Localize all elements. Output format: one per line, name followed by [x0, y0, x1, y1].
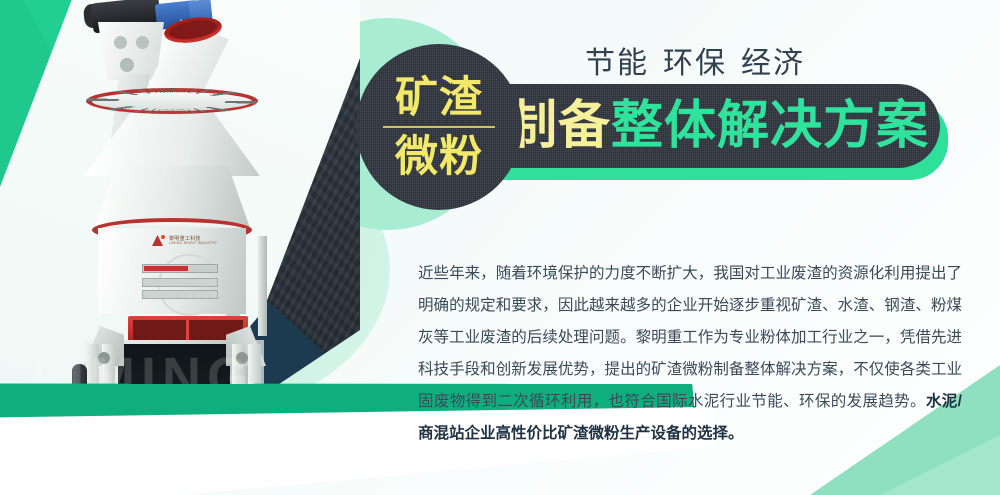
frame-port-3 [120, 58, 134, 72]
base-port-right [236, 352, 248, 364]
discharge-hopper-divider [186, 320, 189, 340]
upper-flange-bolts [86, 88, 258, 114]
headline-rest: 整体解决方案 [611, 97, 929, 155]
body-copy-normal: 近些年来，随着环境保护的力度不断扩大，我国对工业废渣的资源化利用提出了明确的规定… [418, 265, 962, 410]
brand-sun-icon [161, 235, 165, 239]
brand-name-en: LIMING HEAVY INDUSTRY [169, 242, 217, 245]
badge-line-2: 微粉 [395, 131, 483, 183]
badge-line-1: 矿渣 [395, 72, 483, 124]
badge-divider [383, 126, 495, 128]
frame-port-1 [114, 36, 127, 49]
tagline-item-2: 经济 [741, 47, 805, 80]
keyword-badge: 矿渣 微粉 [356, 44, 522, 210]
vent-slot-2 [142, 278, 218, 287]
headline-text: 制备整体解决方案 [505, 92, 929, 160]
side-pipe [258, 236, 267, 336]
base-port-left [98, 352, 110, 364]
tagline-row: 节能环保经济 [585, 38, 805, 82]
tagline-item-0: 节能 [585, 47, 649, 80]
body-copy: 近些年来，随着环境保护的力度不断扩大，我国对工业废渣的资源化利用提出了明确的规定… [418, 258, 962, 450]
machine-brand-logo: 黎明重工科技 LIMING HEAVY INDUSTRY [152, 234, 224, 248]
upper-frame [98, 22, 164, 80]
frame-port-2 [136, 36, 149, 49]
tagline-item-1: 环保 [663, 47, 727, 80]
vent-slot-3 [142, 290, 218, 299]
promo-banner: 黎明重工科技 LIMING HEAVY INDUSTRY LIMING [0, 0, 1000, 495]
vent-slot-red-marker [144, 266, 188, 271]
